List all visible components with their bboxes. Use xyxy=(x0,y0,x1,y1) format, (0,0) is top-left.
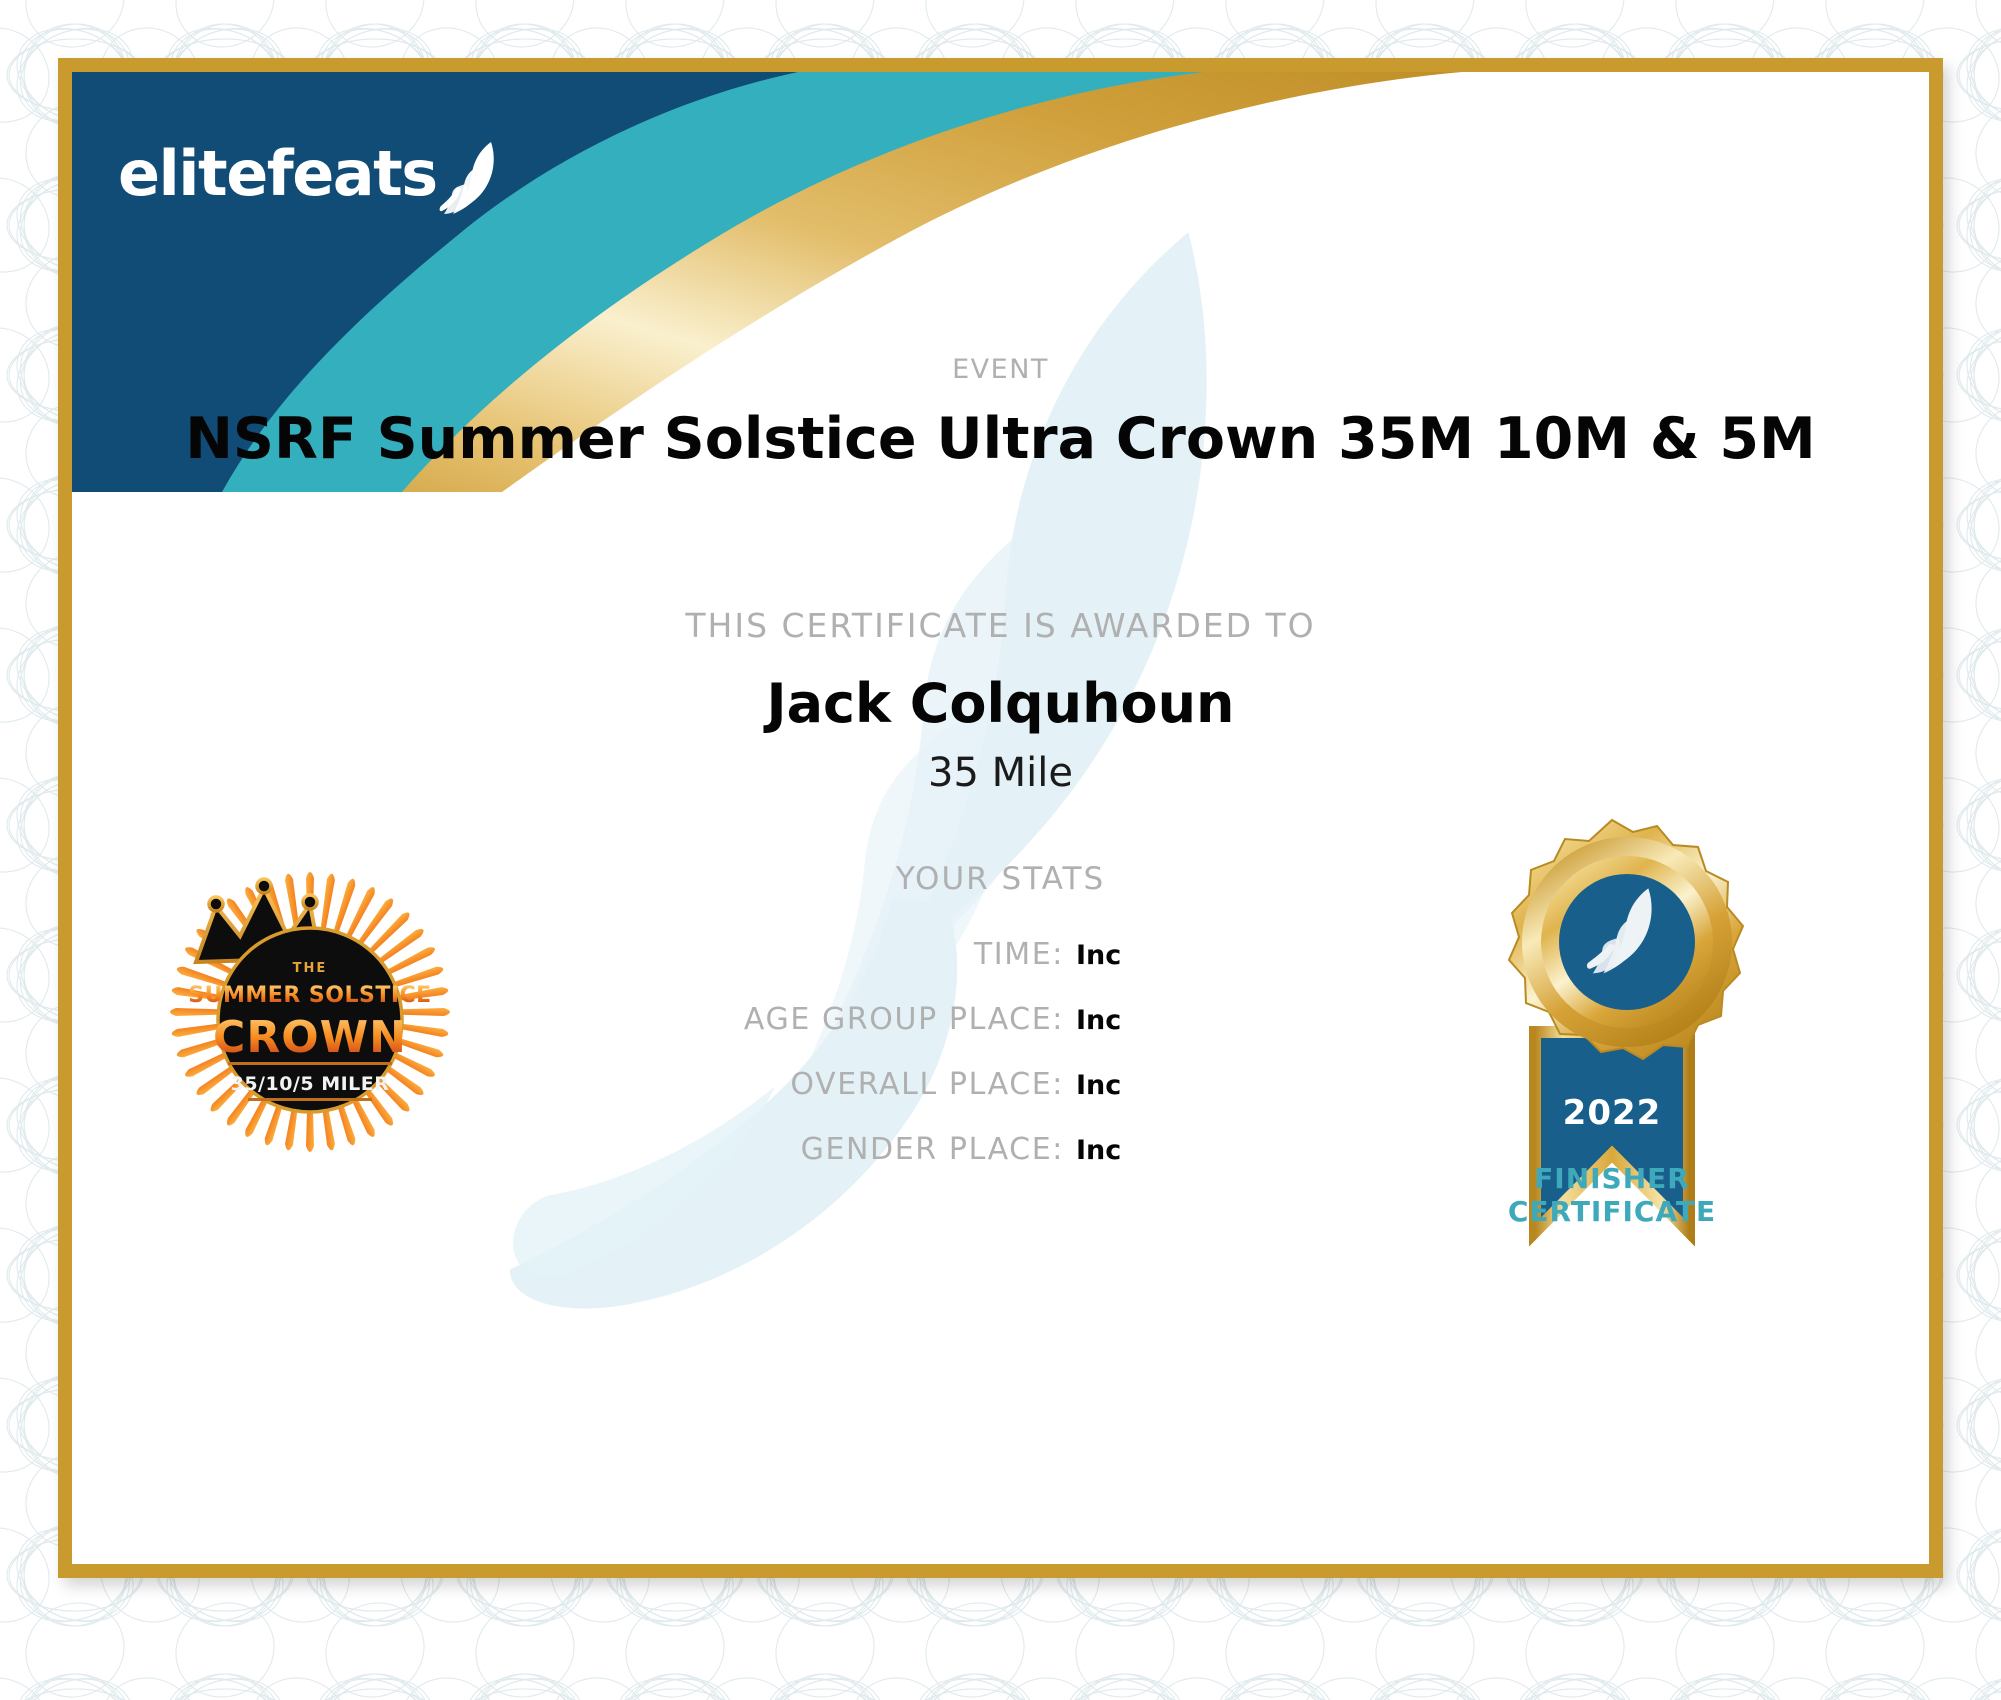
certificate-frame: elitefeats EVENT NSRF Summer Solstice Ul… xyxy=(58,58,1943,1578)
stat-value: Inc xyxy=(1076,1070,1172,1101)
stat-key: AGE GROUP PLACE: xyxy=(744,1002,1064,1037)
summer-solstice-crown-emblem: THE SUMMER SOLSTICE CROWN 35/10/5 MILER xyxy=(160,862,460,1162)
awarded-to-label: THIS CERTIFICATE IS AWARDED TO xyxy=(72,606,1929,645)
emblem-line3: 35/10/5 MILER xyxy=(231,1073,390,1095)
medal-disc xyxy=(1509,820,1743,1059)
event-label: EVENT xyxy=(72,354,1929,385)
elitefeats-logo: elitefeats xyxy=(118,134,501,214)
certificate-content: EVENT NSRF Summer Solstice Ultra Crown 3… xyxy=(72,72,1929,1564)
recipient-name: Jack Colquhoun xyxy=(72,672,1929,735)
emblem-line1: SUMMER SOLSTICE xyxy=(188,983,431,1008)
elitefeats-wordmark: elitefeats xyxy=(118,143,437,205)
stat-key: GENDER PLACE: xyxy=(801,1132,1064,1167)
stat-key: OVERALL PLACE: xyxy=(790,1067,1064,1102)
finisher-certificate-caption: FINISHER CERTIFICATE xyxy=(1412,1162,1812,1228)
stat-key: TIME: xyxy=(974,937,1064,972)
finisher-caption-line2: CERTIFICATE xyxy=(1412,1195,1812,1228)
stat-value: Inc xyxy=(1076,1135,1172,1166)
medal-year: 2022 xyxy=(1563,1093,1662,1133)
event-title: NSRF Summer Solstice Ultra Crown 35M 10M… xyxy=(72,406,1929,472)
emblem-the: THE xyxy=(293,961,328,976)
emblem-line2: CROWN xyxy=(213,1012,407,1063)
stat-value: Inc xyxy=(1076,1005,1172,1036)
stat-value: Inc xyxy=(1076,940,1172,971)
finisher-caption-line1: FINISHER xyxy=(1412,1162,1812,1195)
distance-label: 35 Mile xyxy=(72,750,1929,796)
winged-foot-icon xyxy=(439,140,501,214)
